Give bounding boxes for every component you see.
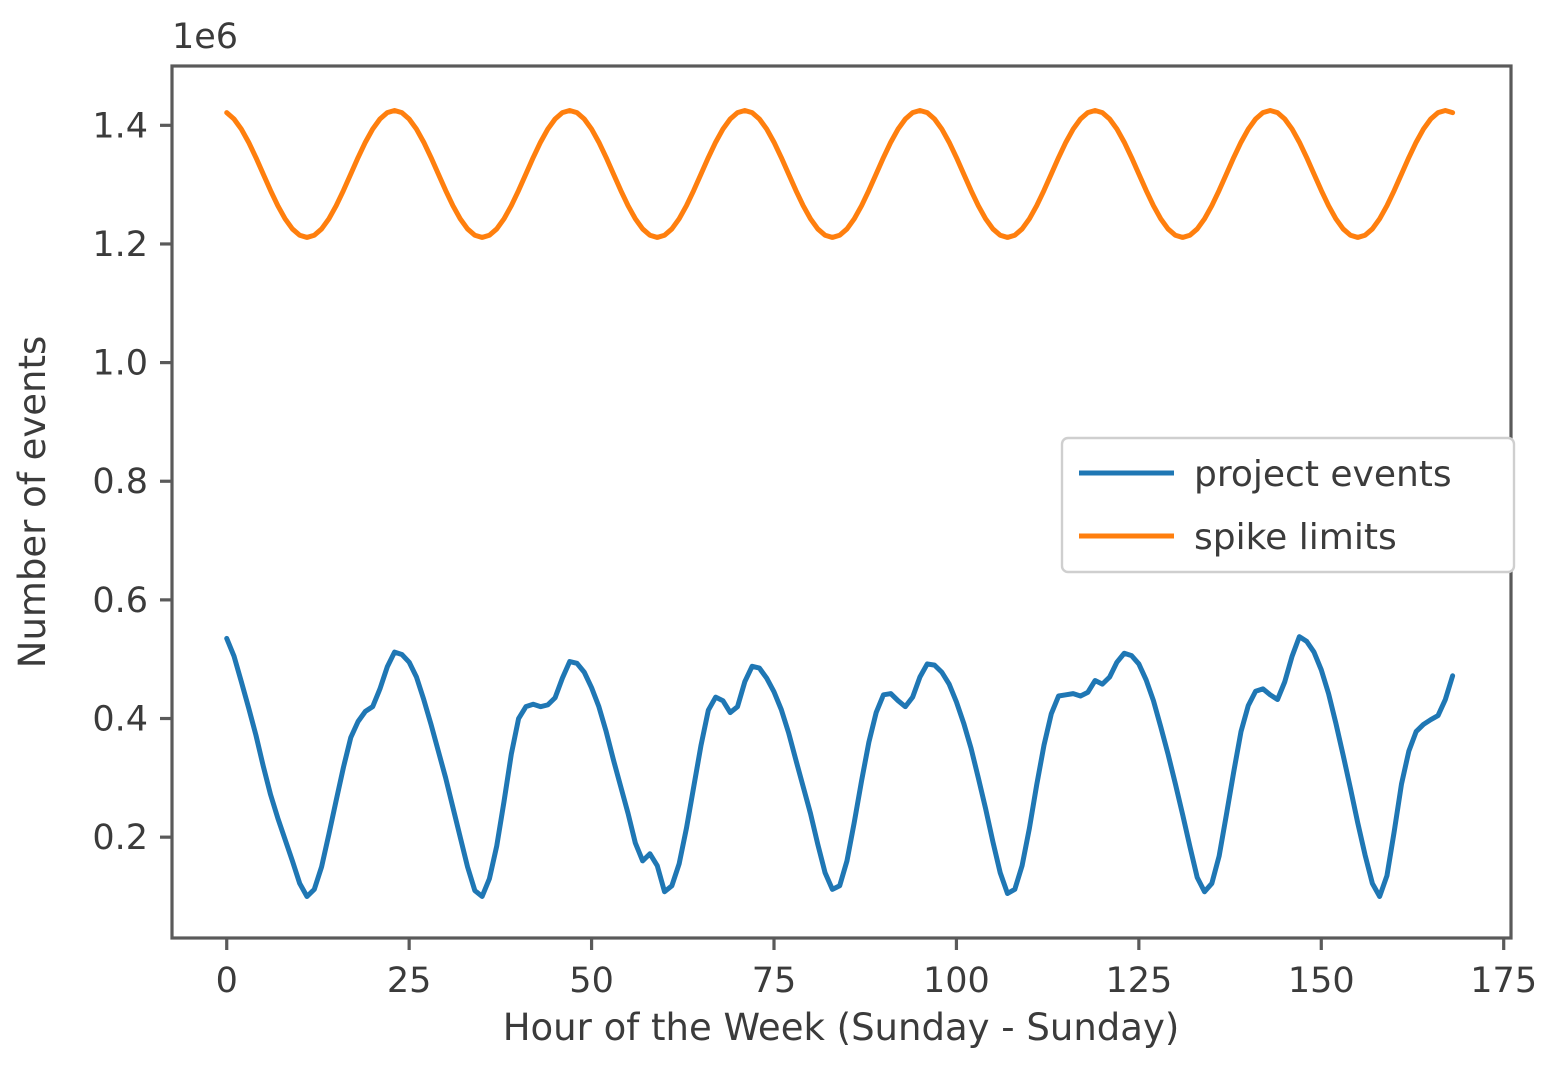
y-tick-label: 1.0 bbox=[92, 344, 148, 384]
x-tick-label: 25 bbox=[387, 961, 432, 1001]
y-tick-label: 0.2 bbox=[92, 818, 148, 858]
x-axis-ticks: 0255075100125150175 bbox=[216, 938, 1538, 1001]
x-tick-label: 125 bbox=[1105, 961, 1172, 1001]
x-axis-title: Hour of the Week (Sunday - Sunday) bbox=[503, 1006, 1180, 1049]
y-axis-ticks: 0.20.40.60.81.01.21.4 bbox=[92, 106, 172, 858]
x-tick-label: 175 bbox=[1470, 961, 1537, 1001]
y-tick-label: 0.4 bbox=[92, 700, 148, 740]
x-tick-label: 100 bbox=[923, 961, 990, 1001]
y-axis-offset-label: 1e6 bbox=[172, 17, 238, 57]
y-tick-label: 1.2 bbox=[92, 225, 148, 265]
y-axis-title: Number of events bbox=[11, 336, 54, 668]
legend-label-project-events: project events bbox=[1194, 454, 1452, 495]
x-tick-label: 50 bbox=[569, 961, 614, 1001]
y-tick-label: 1.4 bbox=[92, 106, 148, 146]
y-tick-label: 0.6 bbox=[92, 581, 148, 621]
figure-canvas: 0255075100125150175 0.20.40.60.81.01.21.… bbox=[0, 0, 1564, 1080]
chart-svg: 0255075100125150175 0.20.40.60.81.01.21.… bbox=[0, 0, 1564, 1080]
x-tick-label: 150 bbox=[1288, 961, 1355, 1001]
x-tick-label: 0 bbox=[216, 961, 238, 1001]
chart-legend[interactable]: project events spike limits bbox=[1062, 438, 1514, 572]
y-tick-label: 0.8 bbox=[92, 462, 148, 502]
legend-label-spike-limits: spike limits bbox=[1194, 517, 1397, 558]
x-tick-label: 75 bbox=[752, 961, 797, 1001]
